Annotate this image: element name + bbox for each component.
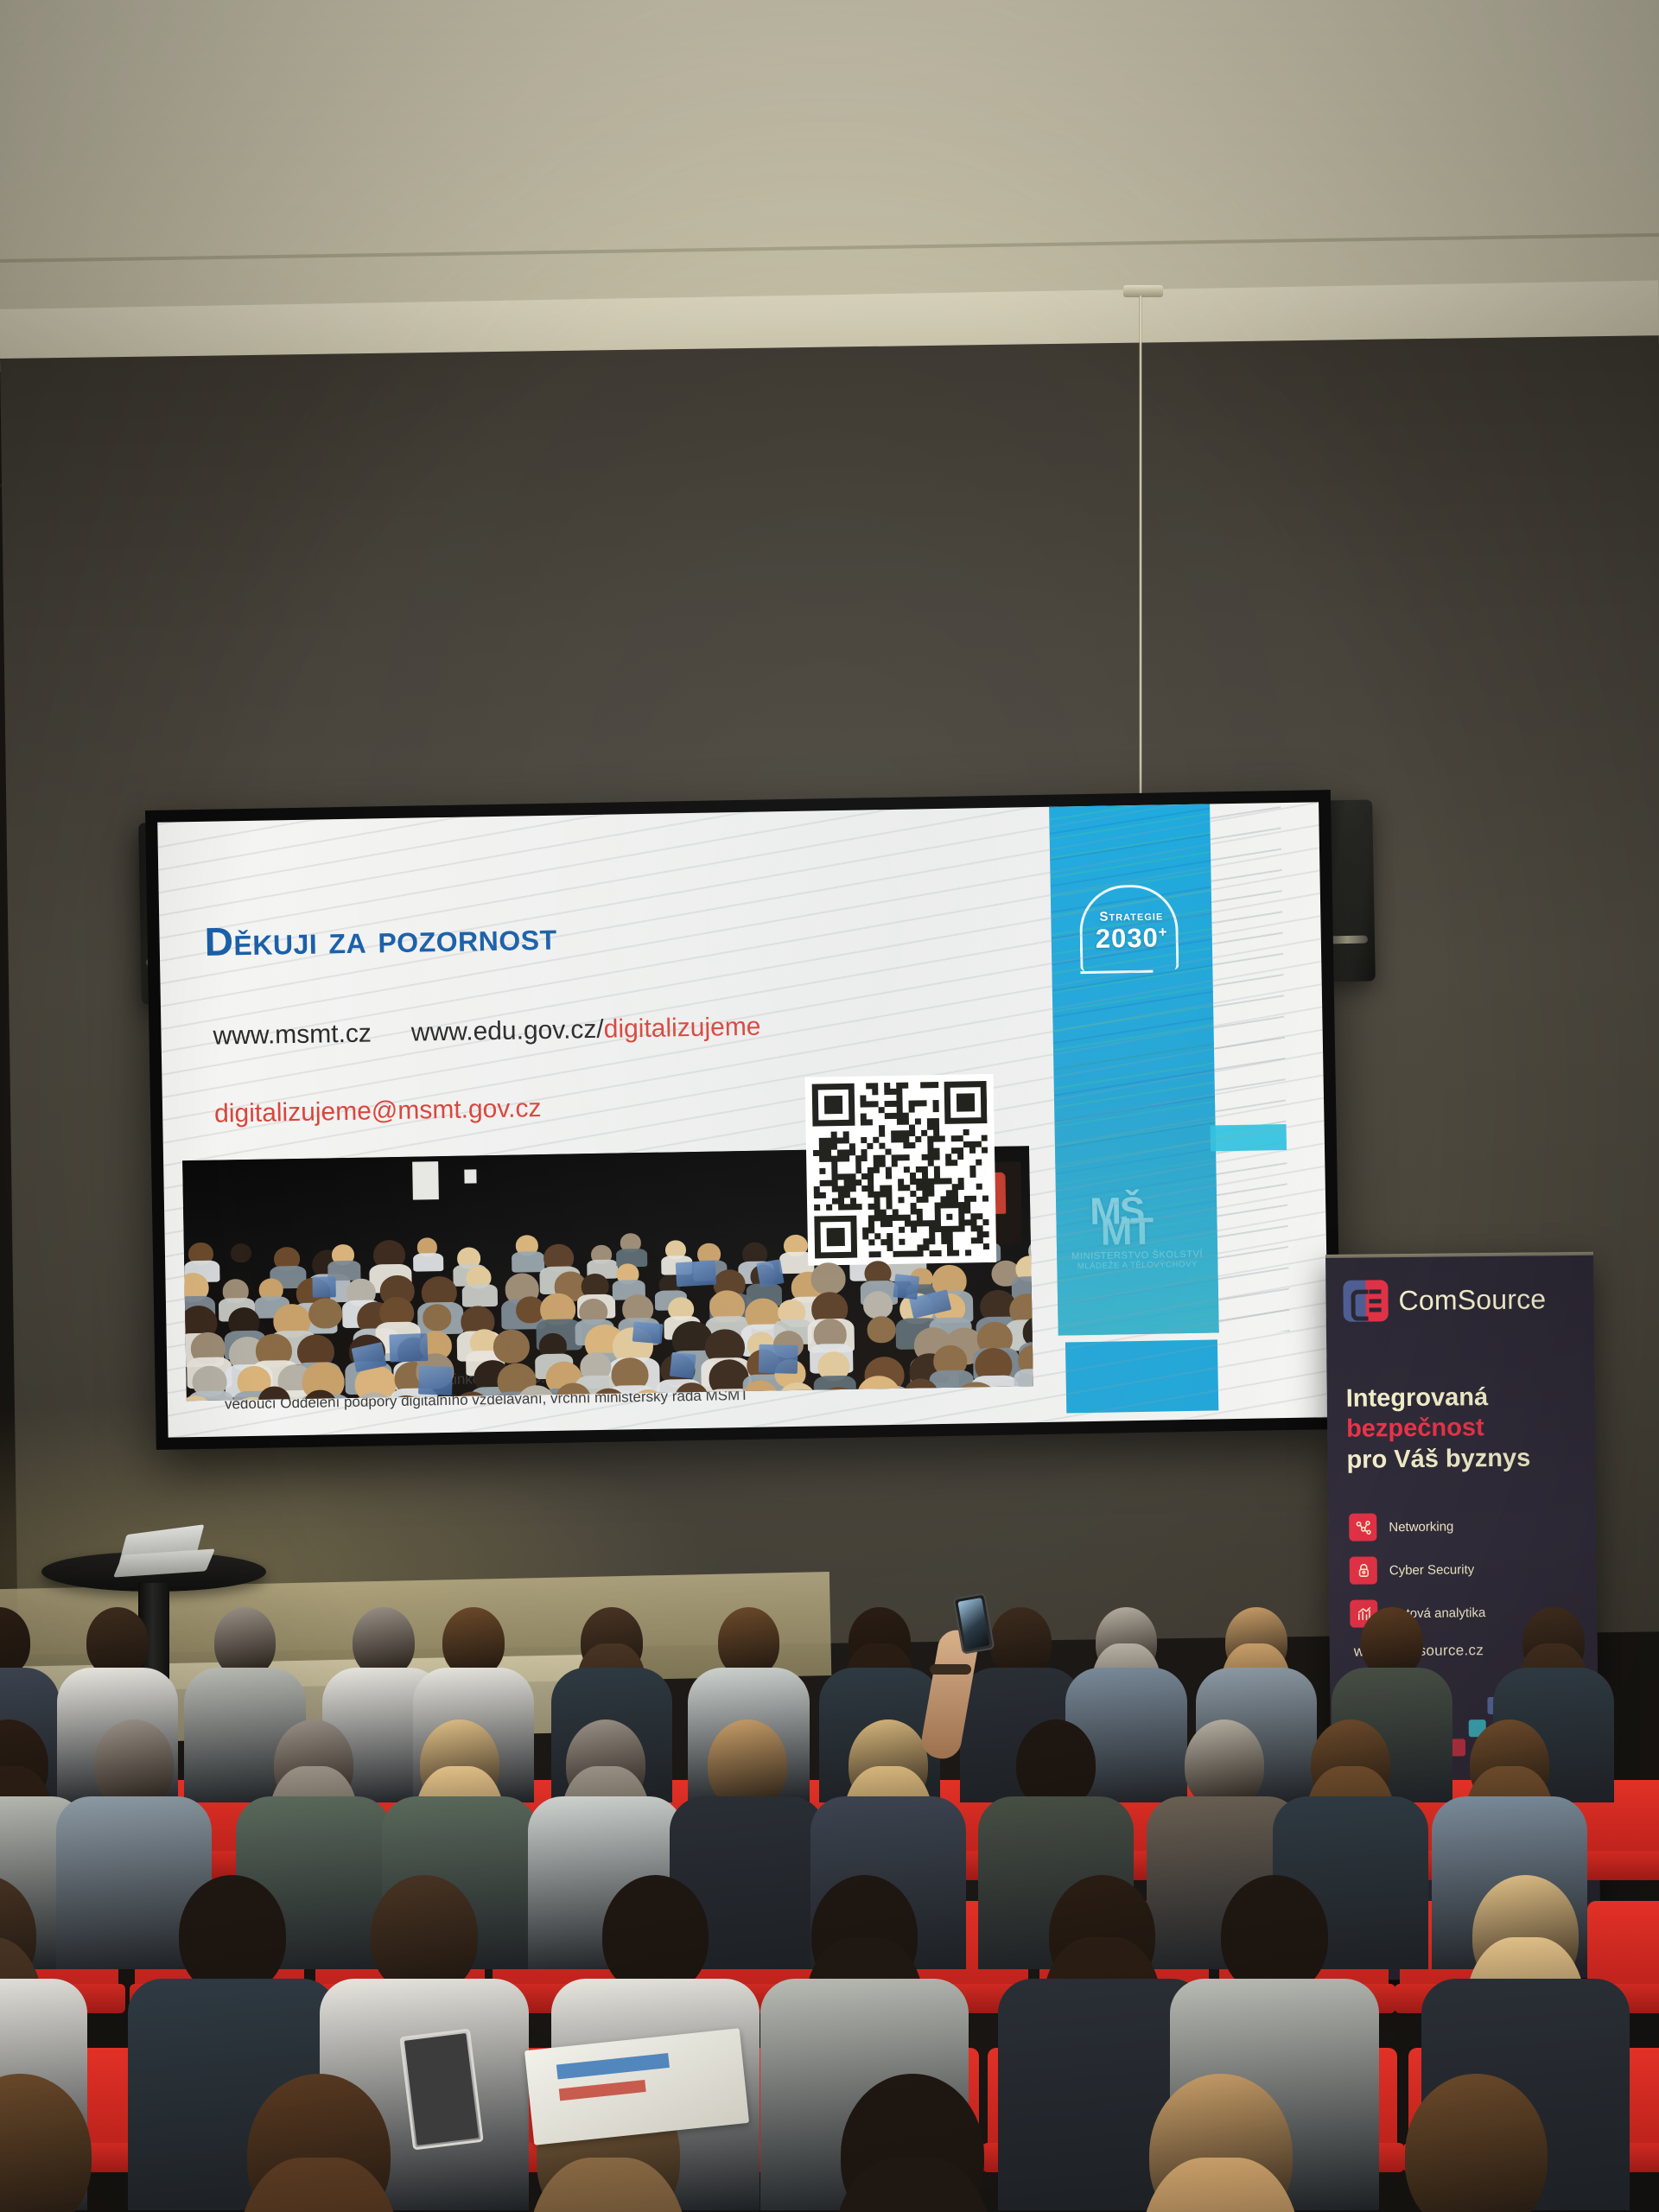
presentation-slide: Strategie 2030+ MŠ MT MINISTERSTVO ŠKOLS… — [157, 802, 1329, 1437]
network-icon — [1349, 1513, 1376, 1541]
url-edu-path: digitalizujeme — [603, 1013, 760, 1044]
cable-ceiling-plate — [1123, 285, 1163, 297]
slide-email: digitalizujeme@msmt.gov.cz — [214, 1094, 542, 1129]
service-item: Networking — [1349, 1511, 1582, 1541]
comsource-logo: ComSource — [1343, 1278, 1546, 1321]
projector-cable — [1139, 296, 1142, 823]
headline-line-3: pro Váš byznys — [1346, 1443, 1578, 1476]
banner-headline: Integrovaná bezpečnost pro Váš byznys — [1346, 1382, 1579, 1476]
audience-head — [94, 1719, 174, 1809]
audience-head — [602, 1875, 709, 1995]
audience-area — [0, 1616, 1659, 2212]
pedestal-table — [41, 1552, 266, 1592]
qr-code — [805, 1074, 997, 1266]
band-cyan-accent — [1211, 1124, 1287, 1152]
auditorium-photo: Strategie 2030+ MŠ MT MINISTERSTVO ŠKOLS… — [0, 0, 1659, 2212]
audience-head — [442, 1607, 505, 1677]
audience-head — [1361, 1607, 1423, 1677]
audience-head — [990, 1607, 1052, 1677]
headline-line-2: bezpečnost — [1346, 1412, 1578, 1445]
slide-title: Děkuji za pozornost — [204, 912, 557, 965]
service-label: Cyber Security — [1389, 1562, 1475, 1578]
handheld-phone-rear — [399, 2028, 483, 2150]
audience-head — [0, 1607, 30, 1677]
projection-screen: Strategie 2030+ MŠ MT MINISTERSTVO ŠKOLS… — [145, 790, 1342, 1450]
audience-head — [1185, 1719, 1264, 1809]
audience-head — [86, 1607, 149, 1677]
comsource-mark-icon — [1343, 1280, 1388, 1322]
band-right-streaks — [1210, 803, 1290, 1332]
slide-urls-row: www.msmt.czwww.edu.gov.cz/digitalizujeme — [213, 1013, 760, 1052]
audience-head — [214, 1607, 276, 1677]
lock-shield-icon — [1350, 1556, 1377, 1584]
comsource-wordmark: ComSource — [1398, 1283, 1546, 1317]
audience-head — [1016, 1719, 1096, 1809]
audience-head — [353, 1607, 415, 1677]
audience-head — [371, 1875, 477, 1995]
audience-head — [179, 1875, 285, 1995]
band-bottom-chip — [1065, 1339, 1218, 1413]
service-label: Networking — [1389, 1519, 1453, 1535]
strategie-2030-logo: Strategie 2030+ — [1074, 884, 1190, 974]
band-lower-gradient — [1054, 1089, 1219, 1335]
url-msmt: www.msmt.cz — [213, 1019, 372, 1050]
headline-line-1: Integrovaná — [1346, 1382, 1578, 1414]
url-edu-base: www.edu.gov.cz/ — [411, 1015, 604, 1047]
service-item: Cyber Security — [1350, 1554, 1583, 1585]
wristband — [930, 1664, 971, 1675]
laptop-on-table — [124, 1529, 199, 1559]
audience-head — [708, 1719, 787, 1809]
strategie-year: 2030+ — [1074, 922, 1189, 955]
audience-head — [1221, 1875, 1327, 1995]
audience-head — [718, 1607, 780, 1677]
